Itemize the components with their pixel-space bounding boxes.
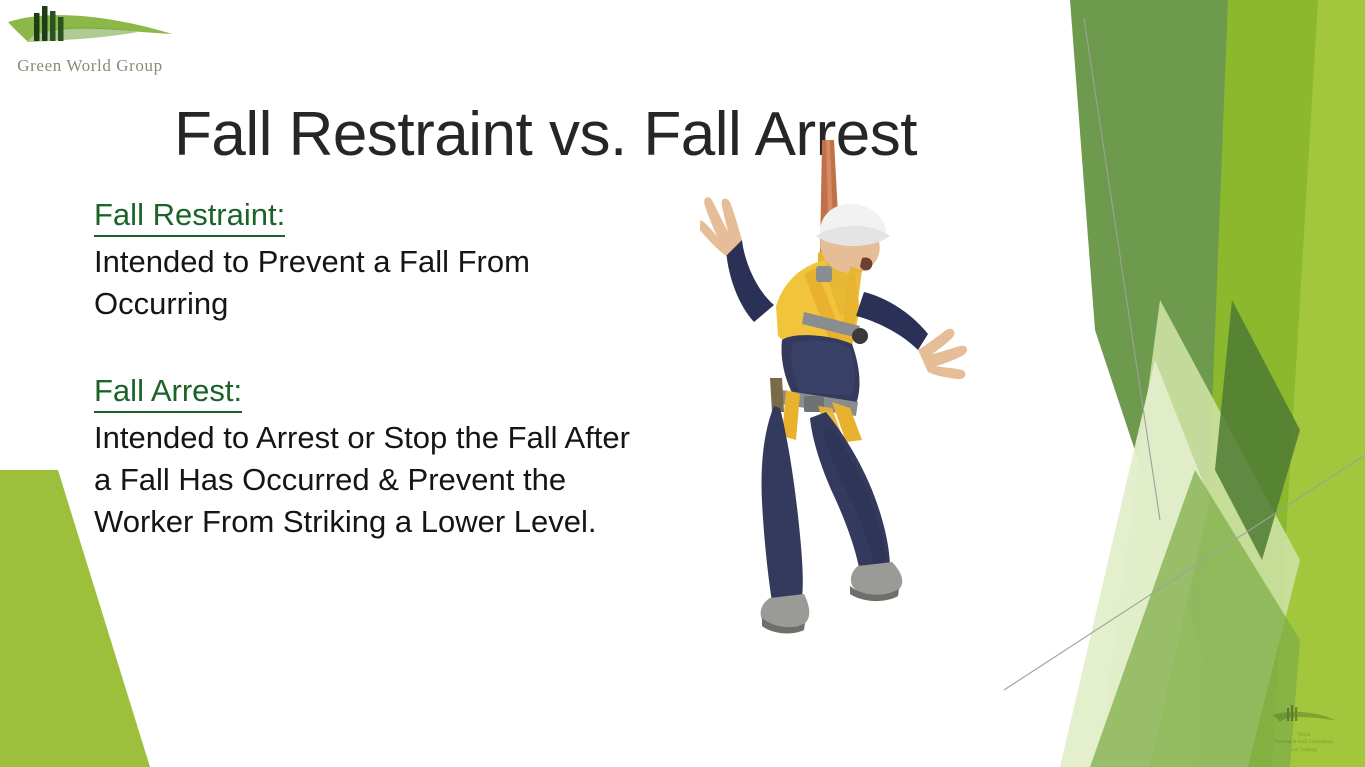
block-body-fall-arrest: Intended to Arrest or Stop the Fall Afte… xyxy=(94,417,719,543)
content-block-fall-restraint: Fall Restraint: Intended to Prevent a Fa… xyxy=(94,196,719,325)
right-boot xyxy=(851,562,902,595)
torso-mesh xyxy=(791,341,855,396)
logo-bar-3 xyxy=(50,11,56,41)
watermark-swoosh-icon xyxy=(1271,705,1337,727)
harness-dorsal-d-ring xyxy=(816,266,832,282)
watermark-line-2: Training & HSE Consultancy xyxy=(1271,740,1337,746)
decor-hairline-vertical xyxy=(1084,18,1160,520)
decor-hairline-diagonal xyxy=(1004,455,1365,690)
block-heading-fall-arrest: Fall Arrest: xyxy=(94,372,242,413)
body-line: Intended to Arrest or Stop the Fall Afte… xyxy=(94,417,719,459)
decor-poly-pale-mid xyxy=(1098,300,1300,767)
block-body-fall-restraint: Intended to Prevent a Fall From Occurrin… xyxy=(94,241,719,325)
logo-bar-4 xyxy=(58,17,64,41)
logo-wordmark: Green World Group xyxy=(4,56,176,76)
decor-poly-dark-left xyxy=(1070,0,1365,767)
right-arm xyxy=(856,292,928,350)
green-world-group-watermark: World Training & HSE Consultancy and Tra… xyxy=(1271,705,1337,745)
logo-swoosh-icon xyxy=(4,2,176,58)
logo-bar-2 xyxy=(42,6,48,41)
worker-suspended-in-fall-arrest-harness xyxy=(700,140,1010,640)
logo-bar-1 xyxy=(34,13,40,41)
decor-poly-bright-right xyxy=(1198,0,1365,767)
body-line: Worker From Striking a Lower Level. xyxy=(94,501,719,543)
body-line: Intended to Prevent a Fall From xyxy=(94,241,719,283)
watermark-line-1: World xyxy=(1271,733,1337,739)
block-heading-fall-restraint: Fall Restraint: xyxy=(94,196,285,237)
content-block-fall-arrest: Fall Arrest: Intended to Arrest or Stop … xyxy=(94,372,719,543)
harness-connector xyxy=(852,328,868,344)
decor-poly-mid-green xyxy=(1090,470,1300,767)
decor-poly-lime-far xyxy=(1272,0,1365,767)
left-leg xyxy=(762,406,803,602)
harness-tool-loop xyxy=(770,378,784,412)
decor-poly-palest xyxy=(1060,360,1210,767)
presentation-slide: Green World Group Fall Restraint vs. Fal… xyxy=(0,0,1365,767)
watermark-line-3: and Training xyxy=(1271,748,1337,754)
body-line: Occurring xyxy=(94,283,719,325)
body-line: a Fall Has Occurred & Prevent the xyxy=(94,459,719,501)
decor-poly-deep-green xyxy=(1215,300,1300,560)
green-world-group-logo: Green World Group xyxy=(4,2,176,86)
